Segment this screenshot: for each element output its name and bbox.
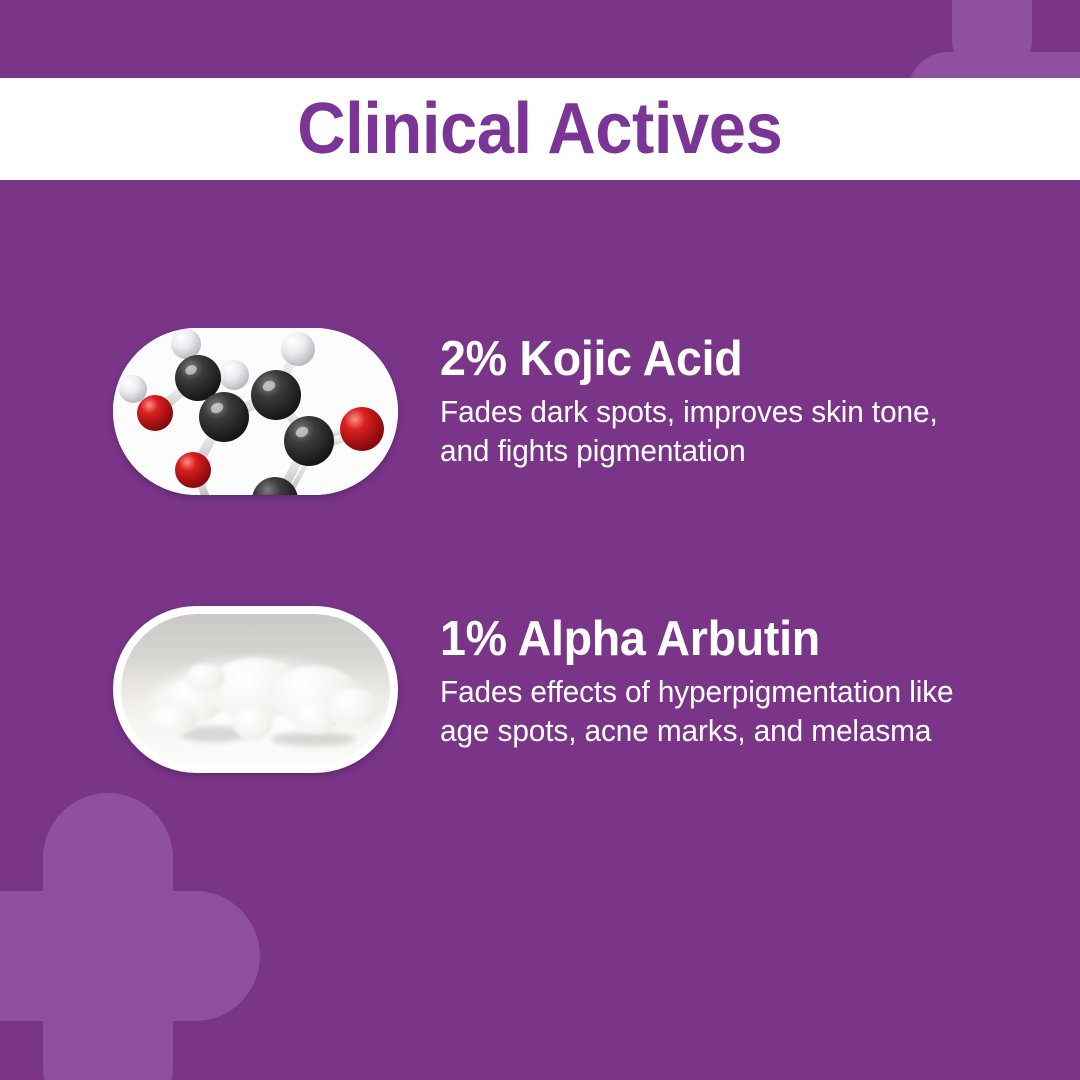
page-title: Clinical Actives	[297, 93, 782, 165]
powder-photo	[121, 614, 390, 765]
kojic-acid-text-block: 2% Kojic Acid Fades dark spots, improves…	[440, 328, 958, 470]
hydrogen-atom	[171, 329, 201, 359]
description-line: Fades dark spots, improves skin tone,	[440, 392, 938, 431]
ingredient-item-kojic-acid: 2% Kojic Acid Fades dark spots, improves…	[113, 328, 958, 495]
alpha-arbutin-text-block: 1% Alpha Arbutin Fades effects of hyperp…	[440, 606, 975, 750]
carbon-atom	[284, 416, 334, 466]
kojic-acid-image-inner	[113, 328, 398, 495]
cross-shape-bottom-left-vertical-icon	[43, 793, 173, 1080]
oxygen-atom	[175, 452, 211, 488]
description-line: and fights pigmentation	[440, 431, 938, 470]
molecule-svg	[113, 328, 398, 495]
ingredient-name: 1% Alpha Arbutin	[440, 614, 948, 665]
alpha-arbutin-image-inner	[121, 614, 390, 765]
cross-shape-bottom-left-horizontal-icon	[0, 891, 260, 1021]
description-line: age spots, acne marks, and melasma	[440, 711, 954, 750]
kojic-acid-molecule-image	[113, 328, 398, 495]
description-line: Fades effects of hyperpigmentation like	[440, 672, 954, 711]
ingredient-description: Fades dark spots, improves skin tone, an…	[440, 392, 938, 470]
alpha-arbutin-powder-image	[113, 606, 398, 773]
cross-shape-top-right-vertical-icon	[952, 0, 1032, 80]
ingredient-item-alpha-arbutin: 1% Alpha Arbutin Fades effects of hyperp…	[113, 606, 975, 773]
carbon-atom	[199, 392, 249, 442]
hydrogen-atom	[119, 375, 147, 403]
hydrogen-atom	[281, 332, 315, 366]
ingredient-description: Fades effects of hyperpigmentation like …	[440, 672, 954, 750]
carbon-atom	[251, 370, 301, 420]
title-banner: Clinical Actives	[0, 78, 1080, 180]
hydrogen-atom	[219, 360, 249, 390]
oxygen-atom	[340, 407, 384, 451]
clinical-actives-infographic: Clinical Actives	[0, 0, 1080, 1080]
oxygen-atom	[137, 395, 173, 431]
molecule-illustration	[113, 328, 398, 495]
ingredient-name: 2% Kojic Acid	[440, 334, 932, 385]
